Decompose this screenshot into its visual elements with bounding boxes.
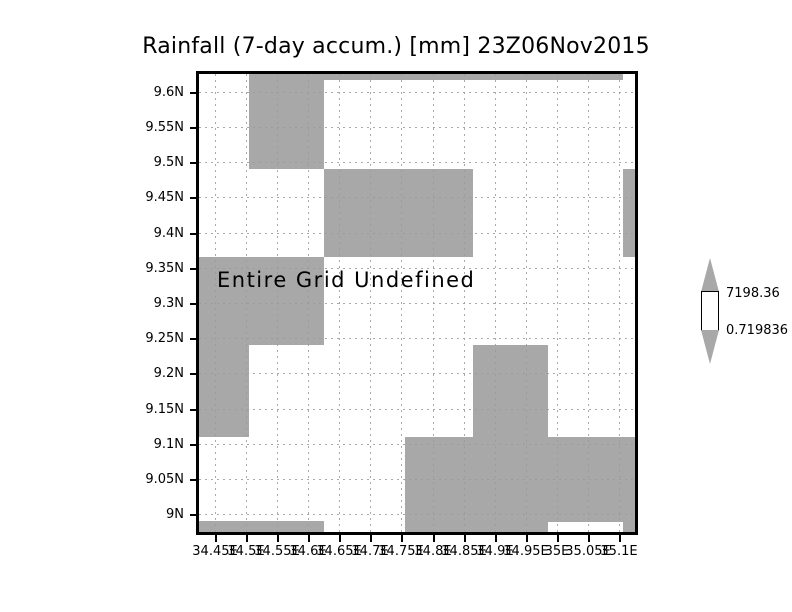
y-axis-tick — [190, 197, 197, 199]
y-axis-label: 9.3N — [154, 297, 184, 310]
y-axis-label: 9.25N — [145, 332, 184, 345]
x-axis-tick — [277, 535, 279, 542]
x-axis-label: 35.1E — [600, 545, 637, 558]
y-axis-tick — [190, 373, 197, 375]
x-axis-tick — [370, 535, 372, 542]
y-axis-tick — [190, 303, 197, 305]
y-axis-label: 9.2N — [154, 367, 184, 380]
y-axis-label: 9N — [166, 508, 184, 521]
plot-area[interactable]: Entire Grid Undefined — [196, 71, 638, 535]
gridline-horizontal — [199, 373, 635, 374]
gridline-horizontal — [199, 233, 635, 234]
x-axis-tick — [215, 535, 217, 542]
y-axis-label: 9.4N — [154, 227, 184, 240]
y-axis-tick — [190, 127, 197, 129]
gridline-horizontal — [199, 127, 635, 128]
gridline-vertical — [401, 74, 402, 532]
gridline-horizontal — [199, 92, 635, 93]
gridline-horizontal — [199, 303, 635, 304]
undefined-region-bottom-left-strip — [199, 521, 324, 532]
y-axis-tick — [190, 233, 197, 235]
gridline-vertical — [277, 74, 278, 532]
gridline-vertical — [557, 74, 558, 532]
y-axis-tick — [190, 479, 197, 481]
y-axis-label: 9.15N — [145, 403, 184, 416]
colorbar-upper-arrow-icon — [701, 258, 719, 292]
x-axis-tick — [433, 535, 435, 542]
undefined-region-t-shape-stem — [473, 345, 548, 437]
gridline-vertical — [619, 74, 620, 532]
gridline-vertical — [464, 74, 465, 532]
gridline-vertical — [246, 74, 247, 532]
gridline-vertical — [339, 74, 340, 532]
entire-grid-undefined-message: Entire Grid Undefined — [217, 268, 475, 292]
gridline-horizontal — [199, 444, 635, 445]
y-axis-tick — [190, 92, 197, 94]
y-axis-label: 9.5N — [154, 156, 184, 169]
undefined-region-top-center-block — [249, 74, 324, 169]
x-axis-tick — [495, 535, 497, 542]
colorbar-low-label: 0.719836 — [726, 324, 788, 337]
gridline-horizontal — [199, 197, 635, 198]
colorbar-high-label: 7198.36 — [726, 287, 780, 300]
x-axis-tick — [401, 535, 403, 542]
gridline-vertical — [308, 74, 309, 532]
y-axis-label: 9.05N — [145, 473, 184, 486]
undefined-region-bottom-right-edge — [623, 521, 635, 532]
gridline-vertical — [433, 74, 434, 532]
gridline-vertical — [215, 74, 216, 532]
x-axis-tick — [339, 535, 341, 542]
y-axis-tick — [190, 514, 197, 516]
gridline-horizontal — [199, 514, 635, 515]
x-axis-tick — [308, 535, 310, 542]
x-axis-tick — [619, 535, 621, 542]
x-axis-tick — [246, 535, 248, 542]
y-axis-label: 9.6N — [154, 86, 184, 99]
gridline-vertical — [495, 74, 496, 532]
gridline-vertical — [588, 74, 589, 532]
x-axis-tick — [588, 535, 590, 542]
gridline-horizontal — [199, 479, 635, 480]
x-axis-tick — [464, 535, 466, 542]
gridline-horizontal — [199, 162, 635, 163]
y-axis-tick — [190, 338, 197, 340]
undefined-region-right-edge-strip — [623, 169, 635, 257]
x-axis-tick — [557, 535, 559, 542]
y-axis-label: 9.35N — [145, 262, 184, 275]
undefined-region-mid-center-block — [324, 169, 473, 257]
colorbar[interactable]: 7198.36 0.719836 — [698, 258, 724, 364]
y-axis-tick — [190, 268, 197, 270]
x-axis-tick — [526, 535, 528, 542]
y-axis-tick — [190, 162, 197, 164]
gridline-horizontal — [199, 338, 635, 339]
y-axis-tick — [190, 444, 197, 446]
x-axis-label: 34.95E — [503, 545, 548, 558]
colorbar-midrange-box — [701, 291, 719, 331]
gridline-vertical — [370, 74, 371, 532]
gridline-horizontal — [199, 409, 635, 410]
gridline-vertical — [526, 74, 527, 532]
plot-canvas: Entire Grid Undefined — [199, 74, 635, 532]
y-axis-label: 9.55N — [145, 121, 184, 134]
page-title: Rainfall (7-day accum.) [mm] 23Z06Nov201… — [0, 34, 792, 59]
y-axis-tick — [190, 409, 197, 411]
y-axis-label: 9.1N — [154, 438, 184, 451]
undefined-region-left-narrow-block — [199, 345, 249, 437]
colorbar-lower-arrow-icon — [701, 330, 719, 364]
y-axis-label: 9.45N — [145, 191, 184, 204]
undefined-region-top-right-strip — [324, 74, 623, 80]
